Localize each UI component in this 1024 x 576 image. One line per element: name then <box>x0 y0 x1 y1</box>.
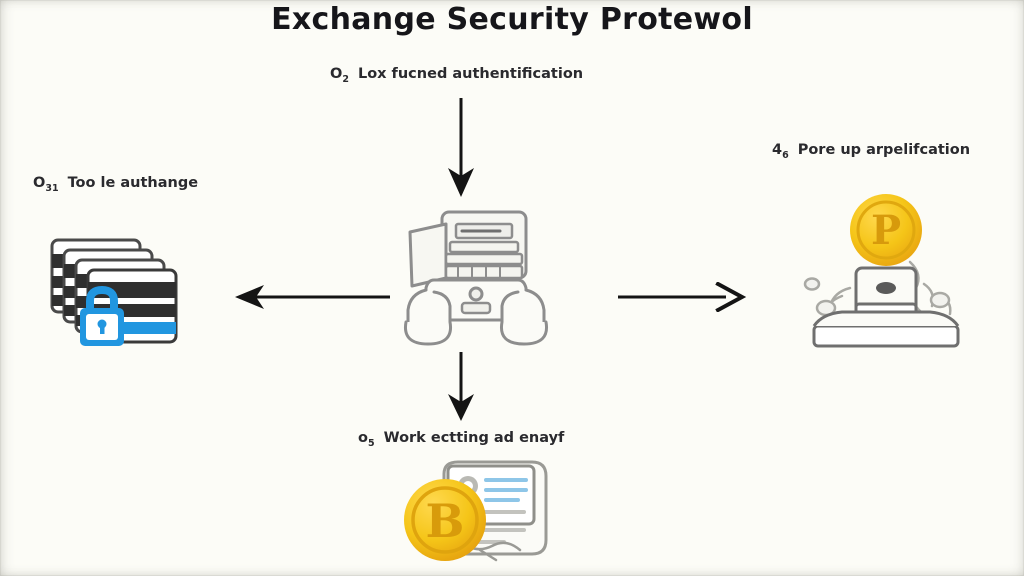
exchange-machine-icon <box>388 202 563 352</box>
node-label-bottom-text: Work ectting ad enayf <box>384 430 565 446</box>
node-label-left-text: Too le authange <box>68 175 198 191</box>
diagram-canvas: Exchange Security Protewol O2Lox fucned … <box>0 0 1024 576</box>
node-index-right: 46 <box>772 142 789 158</box>
coin-over-document-icon: B <box>392 458 567 576</box>
svg-text:B: B <box>426 494 465 548</box>
node-index-bottom: o5 <box>358 430 375 446</box>
page-title: Exchange Security Protewol <box>0 2 1024 37</box>
coin-over-laptop-icon: P <box>790 192 980 362</box>
arrow-center-to-right <box>618 282 748 317</box>
arrow-center-to-left <box>230 282 390 317</box>
node-label-top: O2Lox fucned authentification <box>330 66 583 85</box>
gold-coin-icon: P <box>850 194 922 266</box>
arrow-center-to-bottom <box>444 352 478 429</box>
node-label-left: O31Too le authange <box>33 175 198 194</box>
svg-text:P: P <box>871 207 901 254</box>
node-label-top-text: Lox fucned authentification <box>358 66 583 82</box>
node-index-top: O2 <box>330 66 349 82</box>
bitcoin-coin-icon: B <box>404 479 486 561</box>
node-label-right-text: Pore up arpelifcation <box>798 142 970 158</box>
node-label-bottom: o5Work ectting ad enayf <box>358 430 564 449</box>
arrow-top-to-center <box>444 98 478 205</box>
node-index-left: O31 <box>33 175 59 191</box>
node-label-right: 46Pore up arpelifcation <box>772 142 970 161</box>
locked-cards-stack-icon <box>50 238 200 363</box>
